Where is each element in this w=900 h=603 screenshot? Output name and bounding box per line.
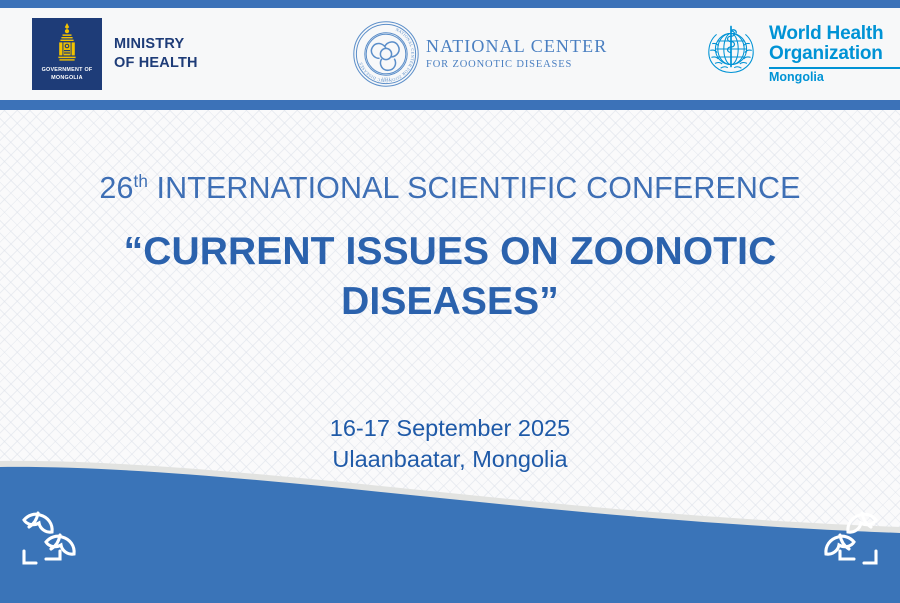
- svg-text:1931: 1931: [382, 77, 391, 82]
- ministry-of-health-name: MINISTRY OF HEALTH: [114, 35, 198, 73]
- edition-number: 26: [99, 171, 133, 205]
- emblem-caption: GOVERNMENT OF MONGOLIA: [42, 67, 93, 83]
- who-name-line1: World Health: [769, 24, 900, 44]
- who-country-label: Mongolia: [769, 71, 900, 85]
- who-name-line2: Organization: [769, 44, 900, 64]
- page-title: “CURRENT ISSUES ON ZOONOTIC DISEASES”: [0, 227, 900, 327]
- who-logo: World Health Organization Mongolia: [700, 22, 900, 85]
- ministry-name-line2: OF HEALTH: [114, 54, 198, 73]
- header-accent-rule: [0, 100, 900, 110]
- who-divider: [769, 67, 900, 69]
- ministry-of-health-logo: GOVERNMENT OF MONGOLIA MINISTRY OF HEALT…: [32, 18, 198, 90]
- biohazard-seal-icon: NATIONAL CENTER FOR ZOONOTIC DISEASES 19…: [352, 20, 420, 88]
- emblem-caption-line1: GOVERNMENT OF: [42, 67, 93, 73]
- top-accent-bar: [0, 0, 900, 8]
- title-block: 26th INTERNATIONAL SCIENTIFIC CONFERENCE…: [0, 170, 900, 326]
- national-center-logo: NATIONAL CENTER FOR ZOONOTIC DISEASES 19…: [352, 20, 607, 88]
- national-center-name: NATIONAL CENTER FOR ZOONOTIC DISEASES: [426, 37, 607, 72]
- mongolian-knot-ornament-right: [798, 507, 884, 573]
- logo-row: GOVERNMENT OF MONGOLIA MINISTRY OF HEALT…: [0, 8, 900, 100]
- who-emblem-icon: [700, 22, 762, 84]
- mongolia-government-emblem: GOVERNMENT OF MONGOLIA: [32, 18, 102, 90]
- conference-title-slide: GOVERNMENT OF MONGOLIA MINISTRY OF HEALT…: [0, 0, 900, 603]
- edition-ordinal-suffix: th: [134, 172, 148, 191]
- page-title-line1: “CURRENT ISSUES ON ZOONOTIC: [60, 227, 840, 277]
- emblem-caption-line2: MONGOLIA: [51, 75, 83, 81]
- ministry-name-line1: MINISTRY: [114, 35, 198, 54]
- conference-edition-line: 26th INTERNATIONAL SCIENTIFIC CONFERENCE: [0, 170, 900, 207]
- national-center-name-line1: NATIONAL CENTER: [426, 37, 607, 57]
- bottom-wave-decoration: [0, 453, 900, 603]
- national-center-name-line2: FOR ZOONOTIC DISEASES: [426, 58, 607, 71]
- who-name: World Health Organization Mongolia: [769, 24, 900, 85]
- soyombo-emblem-icon: [52, 22, 82, 66]
- event-date: 16-17 September 2025: [0, 413, 900, 444]
- conference-label: INTERNATIONAL SCIENTIFIC CONFERENCE: [148, 171, 801, 205]
- page-title-line2: DISEASES”: [60, 277, 840, 327]
- mongolian-knot-ornament-left: [16, 507, 102, 573]
